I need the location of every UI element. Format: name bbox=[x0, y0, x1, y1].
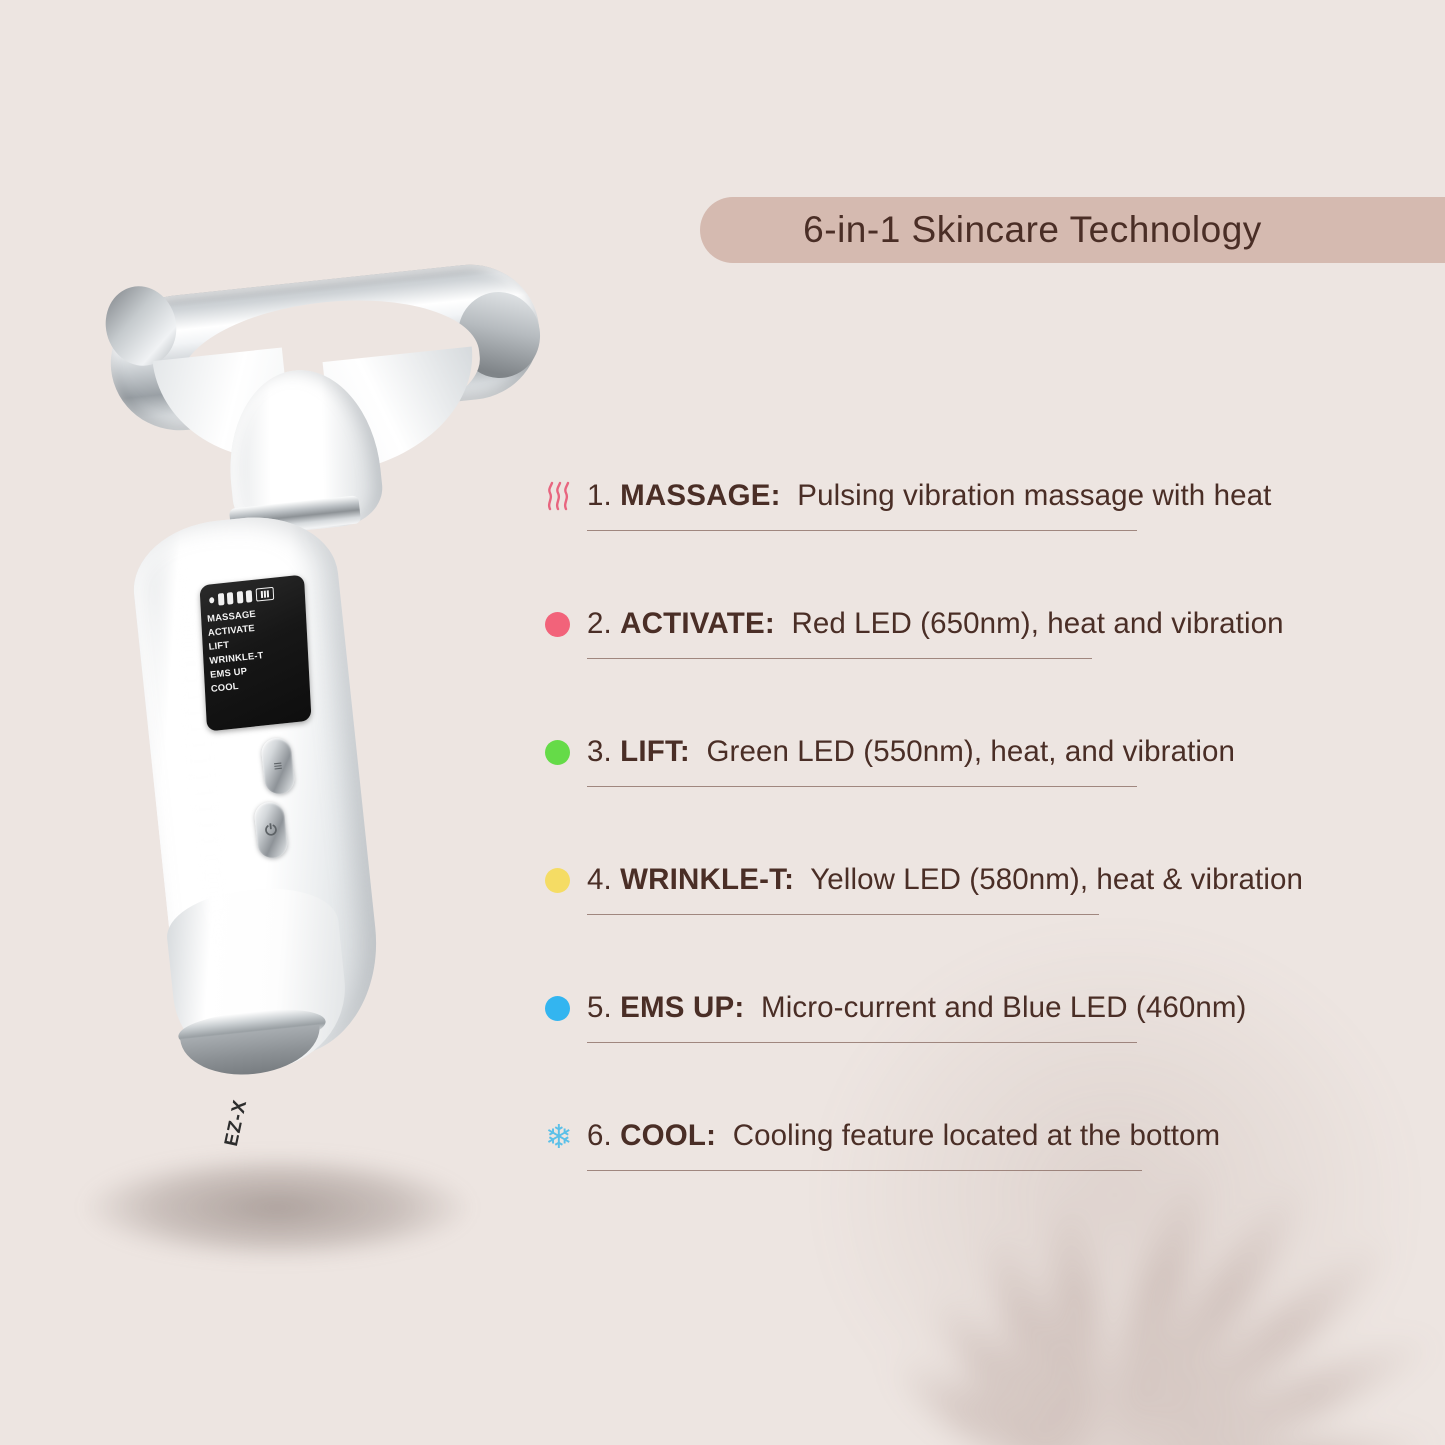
heat-waves-svg bbox=[545, 481, 571, 511]
feature-label: WRINKLE-T: bbox=[620, 863, 794, 896]
red-dot-icon bbox=[545, 612, 587, 637]
product-device-illustration: MASSAGE ACTIVATE LIFT WRINKLE-T EMS UP C… bbox=[60, 250, 580, 1250]
feature-underline bbox=[587, 658, 1092, 659]
device-mode-labels: MASSAGE ACTIVATE LIFT WRINKLE-T EMS UP C… bbox=[207, 603, 306, 695]
feature-item-wrinkle-t: 4. WRINKLE-T: Yellow LED (580nm), heat &… bbox=[545, 854, 1405, 982]
feature-description: Red LED (650nm), heat and vibration bbox=[791, 607, 1283, 640]
device-body: MASSAGE ACTIVATE LIFT WRINKLE-T EMS UP C… bbox=[60, 250, 580, 1150]
device-mode-button[interactable]: ≡ bbox=[260, 737, 296, 796]
feature-label: EMS UP: bbox=[620, 991, 744, 1024]
heat-waves-icon bbox=[545, 481, 587, 511]
yellow-dot-icon bbox=[545, 868, 587, 893]
snowflake-icon: ❄ bbox=[545, 1120, 587, 1153]
feature-text: 6. COOL: Cooling feature located at the … bbox=[587, 1119, 1220, 1153]
feature-number: 1. bbox=[587, 479, 612, 512]
feature-text: 2. ACTIVATE: Red LED (650nm), heat and v… bbox=[587, 607, 1284, 641]
blue-dot-icon bbox=[545, 996, 587, 1021]
feature-underline bbox=[587, 786, 1137, 787]
indicator-bar-1 bbox=[217, 593, 224, 606]
feature-item-cool: ❄ 6. COOL: Cooling feature located at th… bbox=[545, 1110, 1405, 1238]
feature-text: 4. WRINKLE-T: Yellow LED (580nm), heat &… bbox=[587, 863, 1303, 897]
feature-text: 5. EMS UP: Micro-current and Blue LED (4… bbox=[587, 991, 1246, 1025]
green-dot-shape bbox=[545, 740, 570, 765]
indicator-bar-4 bbox=[246, 590, 253, 603]
feature-description: Cooling feature located at the bottom bbox=[733, 1119, 1220, 1152]
header-banner: 6-in-1 Skincare Technology bbox=[700, 197, 1445, 263]
device-brand-logo: EZ-X bbox=[221, 1098, 252, 1149]
feature-text: 1. MASSAGE: Pulsing vibration massage wi… bbox=[587, 479, 1271, 513]
feature-description: Green LED (550nm), heat, and vibration bbox=[707, 735, 1236, 768]
indicator-bar-2 bbox=[227, 592, 234, 605]
feature-description: Pulsing vibration massage with heat bbox=[797, 479, 1271, 512]
feature-label: MASSAGE: bbox=[620, 479, 781, 512]
snowflake-glyph: ❄ bbox=[545, 1120, 573, 1153]
feature-label: LIFT: bbox=[620, 735, 690, 768]
feature-item-activate: 2. ACTIVATE: Red LED (650nm), heat and v… bbox=[545, 598, 1405, 726]
indicator-bar-3 bbox=[236, 591, 243, 604]
feature-underline bbox=[587, 1170, 1142, 1171]
feature-item-massage: 1. MASSAGE: Pulsing vibration massage wi… bbox=[545, 470, 1405, 598]
device-power-button[interactable]: ⏻ bbox=[253, 801, 289, 860]
feature-number: 4. bbox=[587, 863, 612, 896]
yellow-dot-shape bbox=[545, 868, 570, 893]
page-title: 6-in-1 Skincare Technology bbox=[803, 209, 1342, 251]
feature-number: 6. bbox=[587, 1119, 612, 1152]
feature-underline bbox=[587, 530, 1137, 531]
device-display-panel: MASSAGE ACTIVATE LIFT WRINKLE-T EMS UP C… bbox=[199, 575, 311, 732]
feature-list: 1. MASSAGE: Pulsing vibration massage wi… bbox=[545, 470, 1405, 1238]
feature-text: 3. LIFT: Green LED (550nm), heat, and vi… bbox=[587, 735, 1235, 769]
feature-number: 2. bbox=[587, 607, 612, 640]
feature-label: ACTIVATE: bbox=[620, 607, 775, 640]
feature-label: COOL: bbox=[620, 1119, 716, 1152]
feature-item-lift: 3. LIFT: Green LED (550nm), heat, and vi… bbox=[545, 726, 1405, 854]
feature-number: 3. bbox=[587, 735, 612, 768]
green-dot-icon bbox=[545, 740, 587, 765]
indicator-dot-1 bbox=[209, 597, 214, 604]
battery-icon bbox=[255, 587, 274, 602]
device-indicator-leds bbox=[209, 587, 274, 607]
feature-description: Yellow LED (580nm), heat & vibration bbox=[810, 863, 1303, 896]
blue-dot-shape bbox=[545, 996, 570, 1021]
mode-icon: ≡ bbox=[260, 737, 296, 796]
power-icon: ⏻ bbox=[253, 801, 289, 860]
feature-number: 5. bbox=[587, 991, 612, 1024]
red-dot-shape bbox=[545, 612, 570, 637]
feature-description: Micro-current and Blue LED (460nm) bbox=[761, 991, 1246, 1024]
feature-underline bbox=[587, 914, 1099, 915]
feature-item-ems-up: 5. EMS UP: Micro-current and Blue LED (4… bbox=[545, 982, 1405, 1110]
device-drop-shadow bbox=[85, 1155, 470, 1260]
infographic-canvas: 6-in-1 Skincare Technology bbox=[0, 0, 1445, 1445]
feature-underline bbox=[587, 1042, 1137, 1043]
